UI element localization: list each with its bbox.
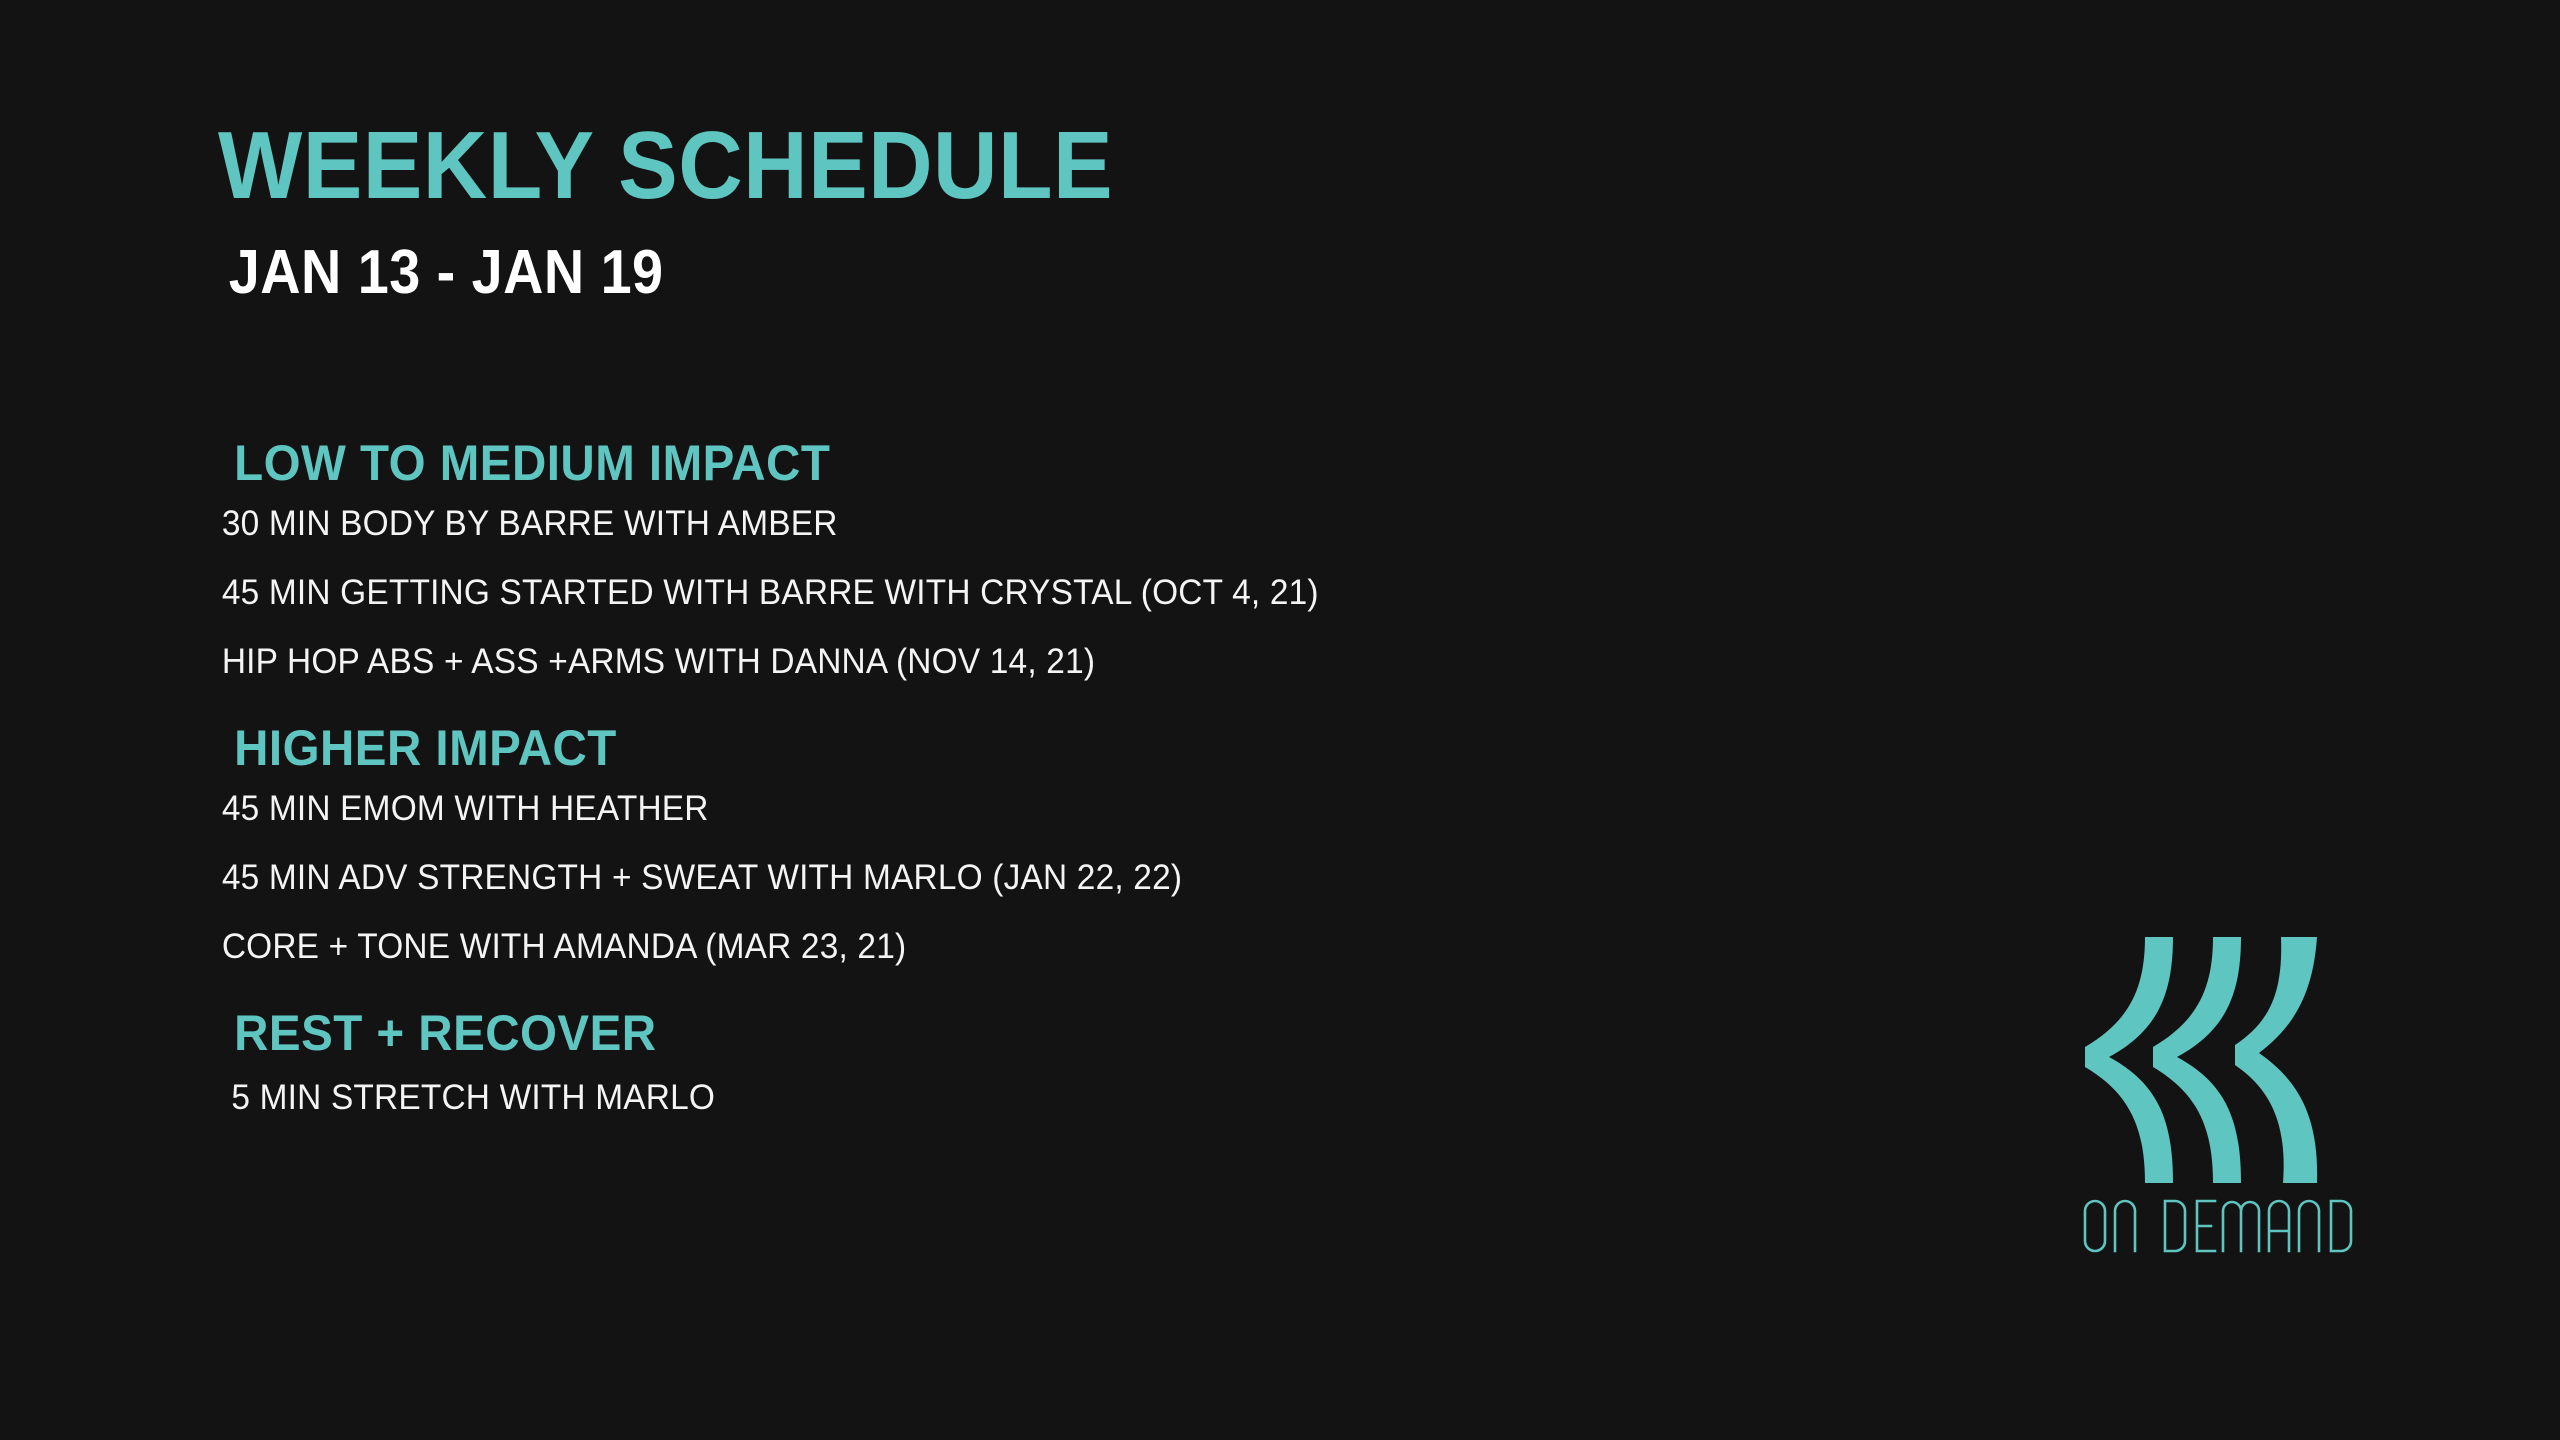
on-demand-wordmark-icon	[2081, 1191, 2371, 1261]
section-item-list: 30 MIN BODY BY BARRE WITH AMBER 45 MIN G…	[218, 506, 1968, 679]
three-waves-icon	[2085, 935, 2345, 1185]
list-item: 45 MIN GETTING STARTED WITH BARRE WITH C…	[218, 575, 1889, 644]
date-range: JAN 13 - JAN 19	[218, 214, 1748, 304]
slide-canvas: WEEKLY SCHEDULE JAN 13 - JAN 19 LOW TO M…	[0, 0, 2560, 1440]
header: WEEKLY SCHEDULE JAN 13 - JAN 19	[218, 118, 1918, 304]
page-title: WEEKLY SCHEDULE	[218, 118, 1799, 214]
section-higher-impact: HIGHER IMPACT 45 MIN EMOM WITH HEATHER 4…	[218, 723, 1968, 964]
brand-logo	[2085, 935, 2385, 1285]
list-item: CORE + TONE WITH AMANDA (MAR 23, 21)	[218, 929, 1889, 964]
section-rest-and-recover: REST + RECOVER 5 MIN STRETCH WITH MARLO	[218, 1008, 1968, 1115]
section-title: REST + RECOVER	[218, 1008, 1881, 1058]
section-low-to-medium-impact: LOW TO MEDIUM IMPACT 30 MIN BODY BY BARR…	[218, 438, 1968, 679]
section-item-list: 5 MIN STRETCH WITH MARLO	[218, 1080, 1968, 1115]
list-item: 45 MIN ADV STRENGTH + SWEAT WITH MARLO (…	[218, 860, 1889, 929]
list-item: HIP HOP ABS + ASS +ARMS WITH DANNA (NOV …	[218, 644, 1889, 679]
section-title: LOW TO MEDIUM IMPACT	[218, 438, 1881, 488]
schedule-sections: LOW TO MEDIUM IMPACT 30 MIN BODY BY BARR…	[218, 438, 1968, 1115]
section-item-list: 45 MIN EMOM WITH HEATHER 45 MIN ADV STRE…	[218, 791, 1968, 964]
section-title: HIGHER IMPACT	[218, 723, 1881, 773]
list-item: 45 MIN EMOM WITH HEATHER	[218, 791, 1889, 860]
wave-stroke-3	[2235, 937, 2317, 1183]
list-item: 30 MIN BODY BY BARRE WITH AMBER	[218, 506, 1889, 575]
list-item: 5 MIN STRETCH WITH MARLO	[218, 1080, 1889, 1115]
